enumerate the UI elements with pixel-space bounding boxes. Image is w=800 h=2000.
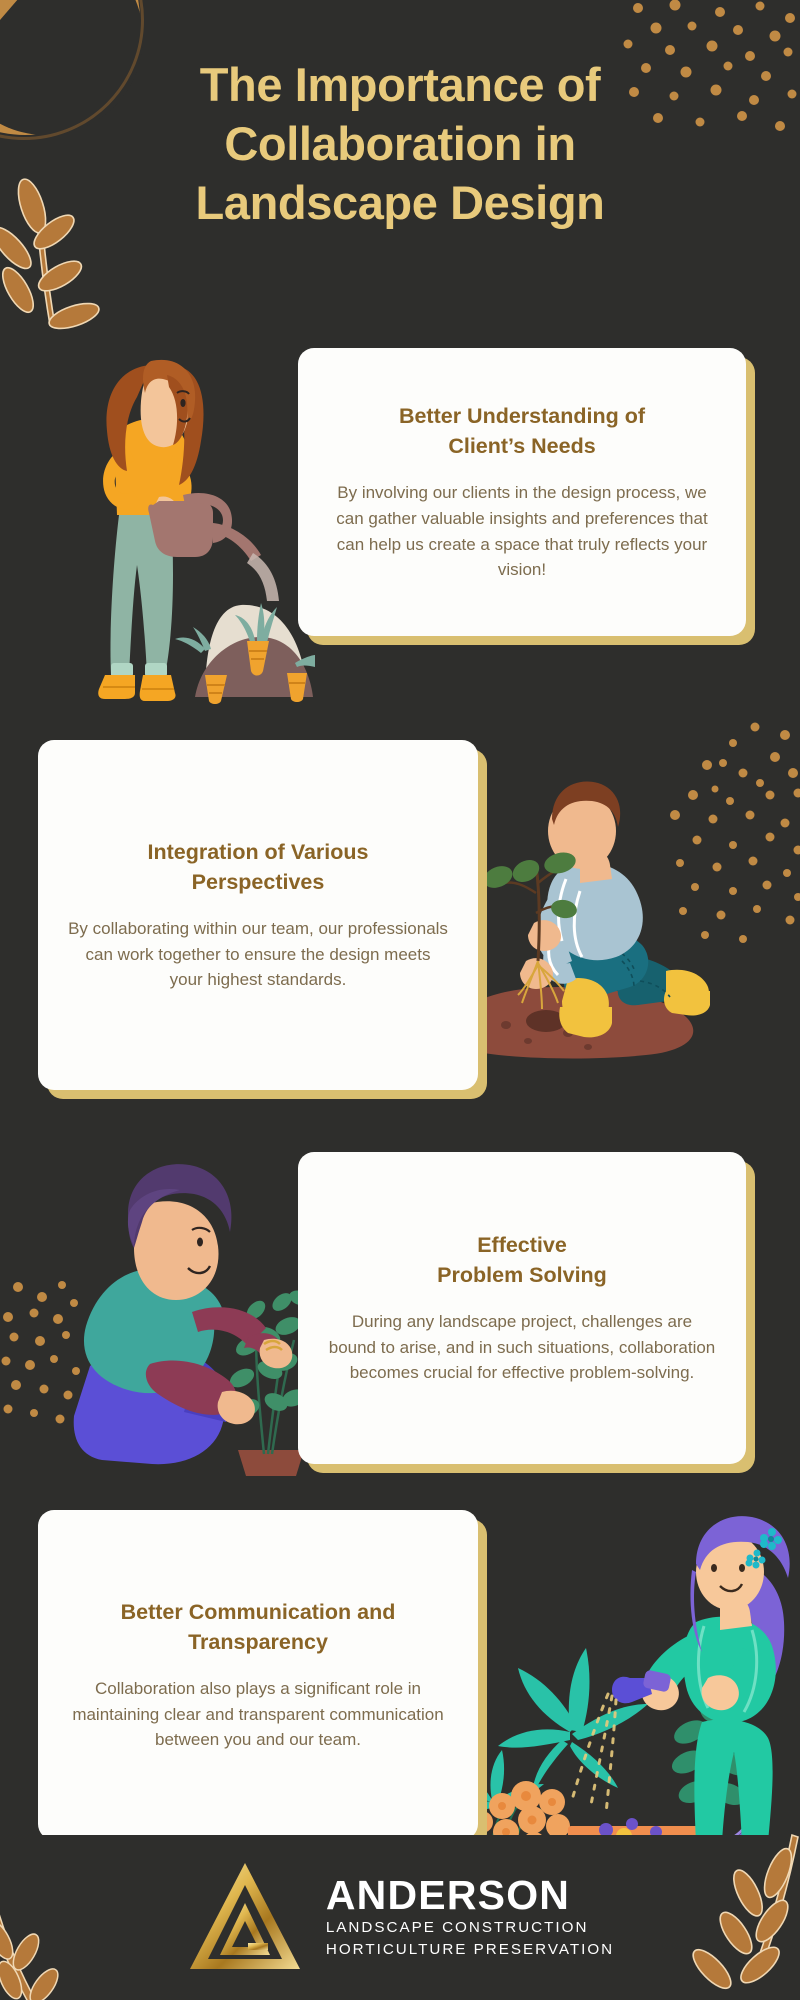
brand-tagline-line-2: HORTICULTURE PRESERVATION	[326, 1939, 614, 1961]
card-heading-line-2: Perspectives	[192, 870, 325, 894]
card-better-understanding: Better Understanding of Client’s Needs B…	[298, 348, 746, 636]
card-heading-line-1: Better Communication and	[121, 1600, 396, 1624]
brand-tagline-line-1: LANDSCAPE CONSTRUCTION	[326, 1917, 614, 1939]
footer-brand-bar: ANDERSON LANDSCAPE CONSTRUCTION HORTICUL…	[0, 1835, 800, 2000]
card-heading: Integration of Various Perspectives	[68, 837, 448, 898]
card-heading-line-1: Integration of Various	[148, 840, 369, 864]
infographic-page: The Importance of Collaboration in Lands…	[0, 0, 800, 2000]
card-body: During any landscape project, challenges…	[328, 1309, 716, 1386]
anderson-triangle-a-logo	[186, 1859, 304, 1977]
woman-tending-plant-illustration	[42, 1150, 342, 1480]
brand-text-block: ANDERSON LANDSCAPE CONSTRUCTION HORTICUL…	[326, 1874, 614, 1960]
page-title: The Importance of Collaboration in Lands…	[40, 55, 760, 233]
title-line-1: The Importance of	[200, 58, 601, 111]
card-heading-line-1: Effective	[477, 1233, 567, 1257]
card-better-communication: Better Communication and Transparency Co…	[38, 1510, 478, 1840]
card-heading-line-1: Better Understanding of	[399, 404, 645, 428]
card-effective-problem-solving: Effective Problem Solving During any lan…	[298, 1152, 746, 1464]
card-heading-line-2: Client’s Needs	[448, 434, 595, 458]
card-heading-line-2: Transparency	[188, 1630, 328, 1654]
card-body: By collaborating within our team, our pr…	[68, 916, 448, 993]
title-line-2: Collaboration in	[224, 117, 575, 170]
card-body: By involving our clients in the design p…	[328, 480, 716, 583]
page-header: The Importance of Collaboration in Lands…	[0, 55, 800, 233]
brand-name: ANDERSON	[326, 1874, 614, 1917]
title-line-3: Landscape Design	[196, 176, 605, 229]
card-heading: Better Understanding of Client’s Needs	[328, 401, 716, 462]
card-integration-perspectives: Integration of Various Perspectives By c…	[38, 740, 478, 1090]
woman-watering-carrots-illustration	[55, 345, 315, 705]
card-heading: Effective Problem Solving	[328, 1230, 716, 1291]
card-heading: Better Communication and Transparency	[68, 1597, 448, 1658]
card-heading-line-2: Problem Solving	[437, 1263, 607, 1287]
card-body: Collaboration also plays a significant r…	[68, 1676, 448, 1753]
